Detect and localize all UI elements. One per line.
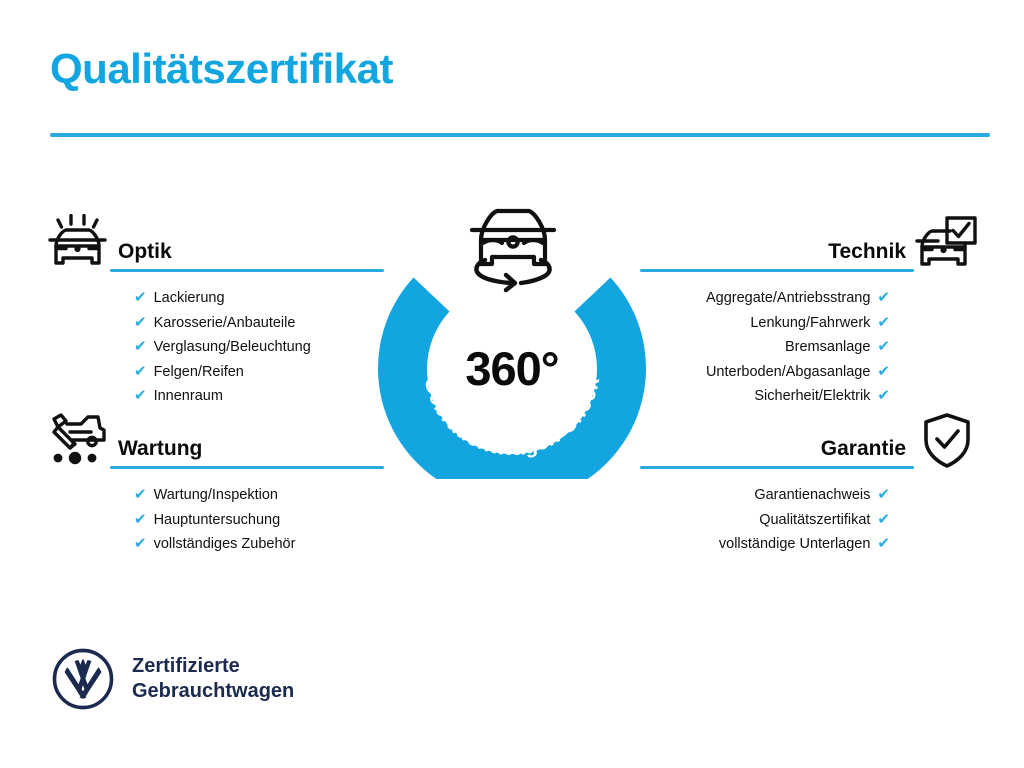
page-title: Qualitätszertifikat — [50, 48, 393, 90]
car-checkbox-icon — [914, 212, 980, 274]
shield-check-icon — [914, 409, 980, 471]
list-item-label: Lackierung — [154, 287, 225, 311]
checklist-technik: Aggregate/Antriebsstrang✔ Lenkung/Fahrwe… — [640, 286, 980, 409]
section-optik: Optik ✔Lackierung ✔Karosserie/Anbauteile… — [44, 202, 384, 409]
footer-line-2: Gebrauchtwagen — [132, 679, 294, 704]
list-item-label: Karosserie/Anbauteile — [154, 312, 296, 336]
list-item: ✔Lackierung — [134, 286, 384, 311]
check-icon: ✔ — [877, 311, 890, 335]
section-garantie: Garantie Garantienachweis✔ Qualitätszert… — [640, 399, 980, 557]
certificate-page: Qualitätszertifikat — [0, 0, 1024, 768]
list-item: ✔Verglasung/Beleuchtung — [134, 335, 384, 360]
list-item-label: Aggregate/Antriebsstrang — [706, 287, 870, 311]
vw-logo-icon — [52, 648, 114, 710]
list-item: Lenkung/Fahrwerk✔ — [640, 311, 890, 336]
header-divider — [50, 133, 990, 137]
check-icon: ✔ — [877, 532, 890, 556]
check-icon: ✔ — [877, 286, 890, 310]
section-wartung: Wartung ✔Wartung/Inspektion ✔Hauptunters… — [44, 399, 384, 557]
check-icon: ✔ — [134, 532, 147, 556]
list-item: ✔vollständiges Zubehör — [134, 532, 384, 557]
section-title-technik: Technik — [640, 240, 914, 269]
check-icon: ✔ — [134, 311, 147, 335]
checklist-wartung: ✔Wartung/Inspektion ✔Hauptuntersuchung ✔… — [44, 483, 384, 557]
list-item: ✔Wartung/Inspektion — [134, 483, 384, 508]
list-item-label: Hauptuntersuchung — [154, 509, 281, 533]
car-service-icon — [44, 409, 110, 471]
section-title-optik: Optik — [110, 240, 384, 269]
checklist-garantie: Garantienachweis✔ Qualitätszertifikat✔ v… — [640, 483, 980, 557]
list-item-label: vollständiges Zubehör — [154, 533, 296, 557]
check-icon: ✔ — [877, 483, 890, 507]
car-rotate-icon — [461, 198, 565, 294]
list-item-label: vollständige Unterlagen — [719, 533, 871, 557]
list-item: ✔Hauptuntersuchung — [134, 508, 384, 533]
section-technik: Technik — [640, 202, 980, 409]
footer-line-1: Zertifizierte — [132, 654, 294, 679]
check-icon: ✔ — [134, 483, 147, 507]
list-item: Qualitätszertifikat✔ — [640, 508, 890, 533]
check-icon: ✔ — [134, 335, 147, 359]
check-icon: ✔ — [877, 360, 890, 384]
section-underline-garantie — [640, 466, 914, 469]
list-item: Aggregate/Antriebsstrang✔ — [640, 286, 890, 311]
footer-brand-text: Zertifizierte Gebrauchtwagen — [132, 654, 294, 704]
check-icon: ✔ — [877, 335, 890, 359]
car-shine-icon — [44, 212, 110, 274]
list-item-label: Felgen/Reifen — [154, 361, 244, 385]
section-title-wartung: Wartung — [110, 437, 384, 466]
list-item-label: Qualitätszertifikat — [759, 509, 870, 533]
list-item-label: Bremsanlage — [785, 336, 870, 360]
footer-brand: Zertifizierte Gebrauchtwagen — [52, 648, 294, 710]
list-item-label: Unterboden/Abgasanlage — [706, 361, 870, 385]
list-item: vollständige Unterlagen✔ — [640, 532, 890, 557]
list-item-label: Garantienachweis — [754, 484, 870, 508]
list-item-label: Wartung/Inspektion — [154, 484, 278, 508]
check-icon: ✔ — [134, 286, 147, 310]
section-underline-wartung — [110, 466, 384, 469]
section-underline-optik — [110, 269, 384, 272]
list-item-label: Lenkung/Fahrwerk — [750, 312, 870, 336]
check-icon: ✔ — [134, 360, 147, 384]
list-item: Bremsanlage✔ — [640, 335, 890, 360]
section-underline-technik — [640, 269, 914, 272]
badge-center-label: 360° — [378, 341, 646, 396]
badge-360-check: Gebrauchtwagen-Check 360° — [378, 255, 646, 479]
section-title-garantie: Garantie — [640, 437, 914, 466]
list-item: ✔Felgen/Reifen — [134, 360, 384, 385]
list-item: ✔Karosserie/Anbauteile — [134, 311, 384, 336]
check-icon: ✔ — [877, 508, 890, 532]
list-item-label: Verglasung/Beleuchtung — [154, 336, 311, 360]
checklist-optik: ✔Lackierung ✔Karosserie/Anbauteile ✔Verg… — [44, 286, 384, 409]
list-item: Unterboden/Abgasanlage✔ — [640, 360, 890, 385]
check-icon: ✔ — [134, 508, 147, 532]
list-item: Garantienachweis✔ — [640, 483, 890, 508]
